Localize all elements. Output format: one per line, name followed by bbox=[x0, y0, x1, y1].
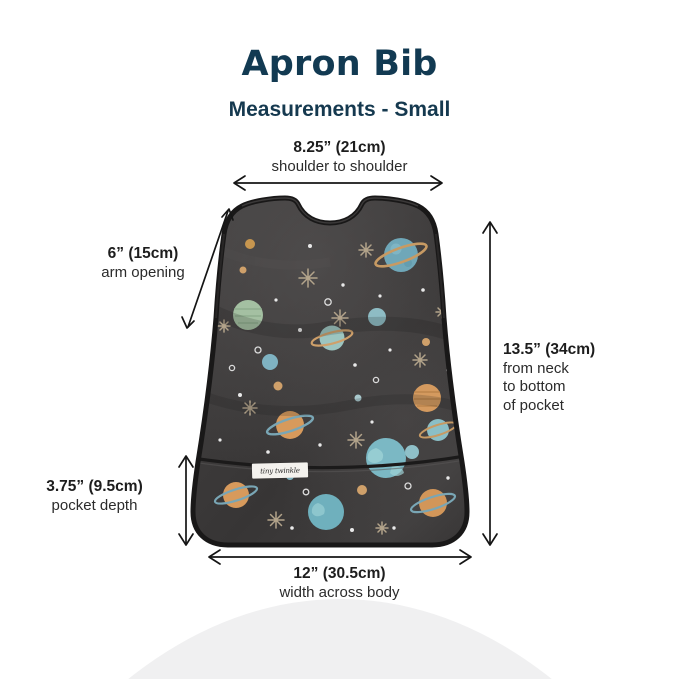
measurement-description-line-3: of pocket bbox=[503, 397, 673, 415]
measurement-description: pocket depth bbox=[12, 497, 177, 515]
bottom-arc-decoration bbox=[0, 599, 679, 679]
measurement-description: width across body bbox=[0, 584, 679, 602]
infographic-page: Apron Bib Measurements - Small bbox=[0, 0, 679, 679]
arrow-shoulder-to-shoulder bbox=[234, 176, 442, 190]
measurement-description-line-2: to bottom bbox=[503, 378, 673, 396]
measurement-value: 13.5” (34cm) bbox=[503, 341, 673, 360]
bib-illustration bbox=[180, 190, 500, 560]
brand-label-tag: tiny twinkle bbox=[252, 462, 308, 478]
measurement-description: shoulder to shoulder bbox=[0, 158, 679, 176]
measurement-value: 8.25” (21cm) bbox=[0, 139, 679, 158]
measurement-value: 3.75” (9.5cm) bbox=[12, 478, 177, 497]
measurement-value: 12” (30.5cm) bbox=[0, 565, 679, 584]
measurement-value: 6” (15cm) bbox=[58, 245, 228, 264]
product-photo-apron-bib bbox=[180, 190, 500, 560]
measurement-arm-opening: 6” (15cm) arm opening bbox=[58, 245, 228, 282]
page-subtitle: Measurements - Small bbox=[0, 98, 679, 122]
measurement-neck-to-pocket: 13.5” (34cm) from neck to bottom of pock… bbox=[503, 341, 673, 415]
measurement-description: arm opening bbox=[58, 264, 228, 282]
page-title: Apron Bib bbox=[0, 44, 679, 84]
brand-label-text: tiny twinkle bbox=[260, 466, 300, 475]
measurement-description-line-1: from neck bbox=[503, 360, 673, 378]
measurement-shoulder-to-shoulder: 8.25” (21cm) shoulder to shoulder bbox=[0, 139, 679, 176]
measurement-pocket-depth: 3.75” (9.5cm) pocket depth bbox=[12, 478, 177, 515]
measurement-width-across-body: 12” (30.5cm) width across body bbox=[0, 565, 679, 602]
